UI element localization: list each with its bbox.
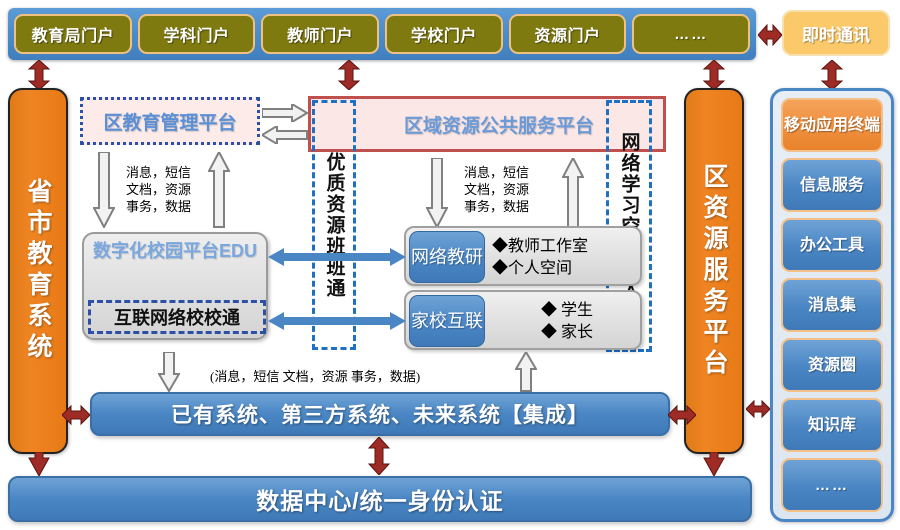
flow-label-center-line2: 文档，资源 <box>464 181 529 198</box>
hollow-arrow-down-admin-to-campus <box>93 152 115 228</box>
app-item-information-service[interactable]: 信息服务 <box>781 158 883 212</box>
service-row-network-research[interactable]: 网络教研 ◆教师工作室 ◆个人空间 <box>404 226 642 286</box>
red-double-arrow-horizontal-portal-im <box>758 20 782 50</box>
flow-label-center: 消息，短信 文档，资源 事务，数据 <box>464 164 529 215</box>
red-double-arrow-district-to-app-panel <box>746 398 770 420</box>
service-item-parent: ◆ 家长 <box>541 322 593 344</box>
data-center-identity-bar[interactable]: 数据中心/统一身份认证 <box>8 476 752 522</box>
service-tag-home-school: 家校互联 <box>409 295 485 347</box>
district-education-management-platform[interactable]: 区教育管理平台 <box>80 97 260 145</box>
hollow-arrow-up-campus-to-admin <box>208 152 230 228</box>
flow-label-left-line3: 事务，数据 <box>126 198 191 215</box>
service-tag-network-research: 网络教研 <box>409 231 485 283</box>
red-arrow-province-to-datacenter <box>28 452 50 476</box>
app-item-resource-circle[interactable]: 资源圈 <box>781 338 883 392</box>
red-double-arrow-im-to-app-panel <box>821 60 843 90</box>
red-arrow-district-to-datacenter <box>703 452 725 476</box>
district-resource-service-platform-bar[interactable]: 区资源服务平台 <box>684 88 744 454</box>
app-item-office-tools[interactable]: 办公工具 <box>781 218 883 272</box>
digital-campus-title: 数字化校园平台EDU <box>84 240 266 262</box>
blue-double-arrow-campus-to-home-school <box>268 310 406 332</box>
diagram-canvas: 教育局门户 学科门户 教师门户 学校门户 资源门户 …… 即时通讯 省市教育系统… <box>0 0 900 530</box>
flow-label-left: 消息，短信 文档，资源 事务，数据 <box>126 164 191 215</box>
app-item-knowledge-base[interactable]: 知识库 <box>781 398 883 452</box>
portal-item-education-bureau[interactable]: 教育局门户 <box>14 14 132 54</box>
flow-label-center-line1: 消息，短信 <box>464 164 529 181</box>
portal-item-school[interactable]: 学校门户 <box>385 14 503 54</box>
hollow-arrow-up-integration-to-services <box>515 352 537 392</box>
app-panel: 移动应用终端 信息服务 办公工具 消息集 资源圈 知识库 …… <box>770 88 894 522</box>
hollow-arrow-right-admin-to-resource <box>262 104 308 122</box>
flow-label-bottom: (消息，短信 文档，资源 事务，数据) <box>210 366 420 385</box>
service-row-home-school[interactable]: 家校互联 ◆ 学生 ◆ 家长 <box>404 290 642 350</box>
integration-systems-bar[interactable]: 已有系统、第三方系统、未来系统【集成】 <box>90 392 670 436</box>
instant-messaging-box[interactable]: 即时通讯 <box>782 10 890 56</box>
hollow-arrow-down-resource-to-services <box>426 158 448 228</box>
red-double-arrow-portal-to-resource-platform <box>338 60 360 90</box>
digital-campus-platform-box[interactable]: 数字化校园平台EDU 互联网络校校通 <box>82 232 268 340</box>
app-item-more[interactable]: …… <box>781 458 883 512</box>
red-double-arrow-portal-to-district <box>703 60 725 90</box>
app-item-message-hub[interactable]: 消息集 <box>781 278 883 332</box>
portal-bar: 教育局门户 学科门户 教师门户 学校门户 资源门户 …… <box>8 8 756 60</box>
flow-label-center-line3: 事务，数据 <box>464 198 529 215</box>
hollow-arrow-up-services-to-resource <box>562 158 584 228</box>
flow-label-left-line2: 文档，资源 <box>126 181 191 198</box>
red-double-arrow-province-to-integration <box>62 403 90 427</box>
service-item-personal-space: ◆个人空间 <box>492 258 642 280</box>
hollow-arrow-left-resource-to-admin <box>262 126 308 144</box>
red-double-arrow-portal-to-province <box>28 60 50 90</box>
portal-item-resource[interactable]: 资源门户 <box>509 14 627 54</box>
portal-item-teacher[interactable]: 教师门户 <box>261 14 379 54</box>
hollow-arrow-down-campus-to-integration <box>158 352 180 392</box>
service-items-home-school: ◆ 学生 ◆ 家长 <box>492 296 642 348</box>
service-item-teacher-studio: ◆教师工作室 <box>492 236 642 258</box>
flow-label-left-line1: 消息，短信 <box>126 164 191 181</box>
red-double-arrow-integration-to-datacenter <box>368 437 390 475</box>
portal-item-subject[interactable]: 学科门户 <box>138 14 256 54</box>
province-city-education-system-bar[interactable]: 省市教育系统 <box>8 88 68 454</box>
service-items-network-research: ◆教师工作室 ◆个人空间 <box>492 232 642 284</box>
resource-platform-label: 区域资源公共服务平台 <box>404 111 594 138</box>
red-double-arrow-integration-to-district <box>668 403 696 427</box>
portal-item-more[interactable]: …… <box>632 14 750 54</box>
internet-school-connection-label: 互联网络校校通 <box>88 300 266 334</box>
service-item-student: ◆ 学生 <box>541 300 593 322</box>
blue-double-arrow-campus-to-network-research <box>268 246 406 268</box>
app-item-mobile-terminal[interactable]: 移动应用终端 <box>781 98 883 152</box>
